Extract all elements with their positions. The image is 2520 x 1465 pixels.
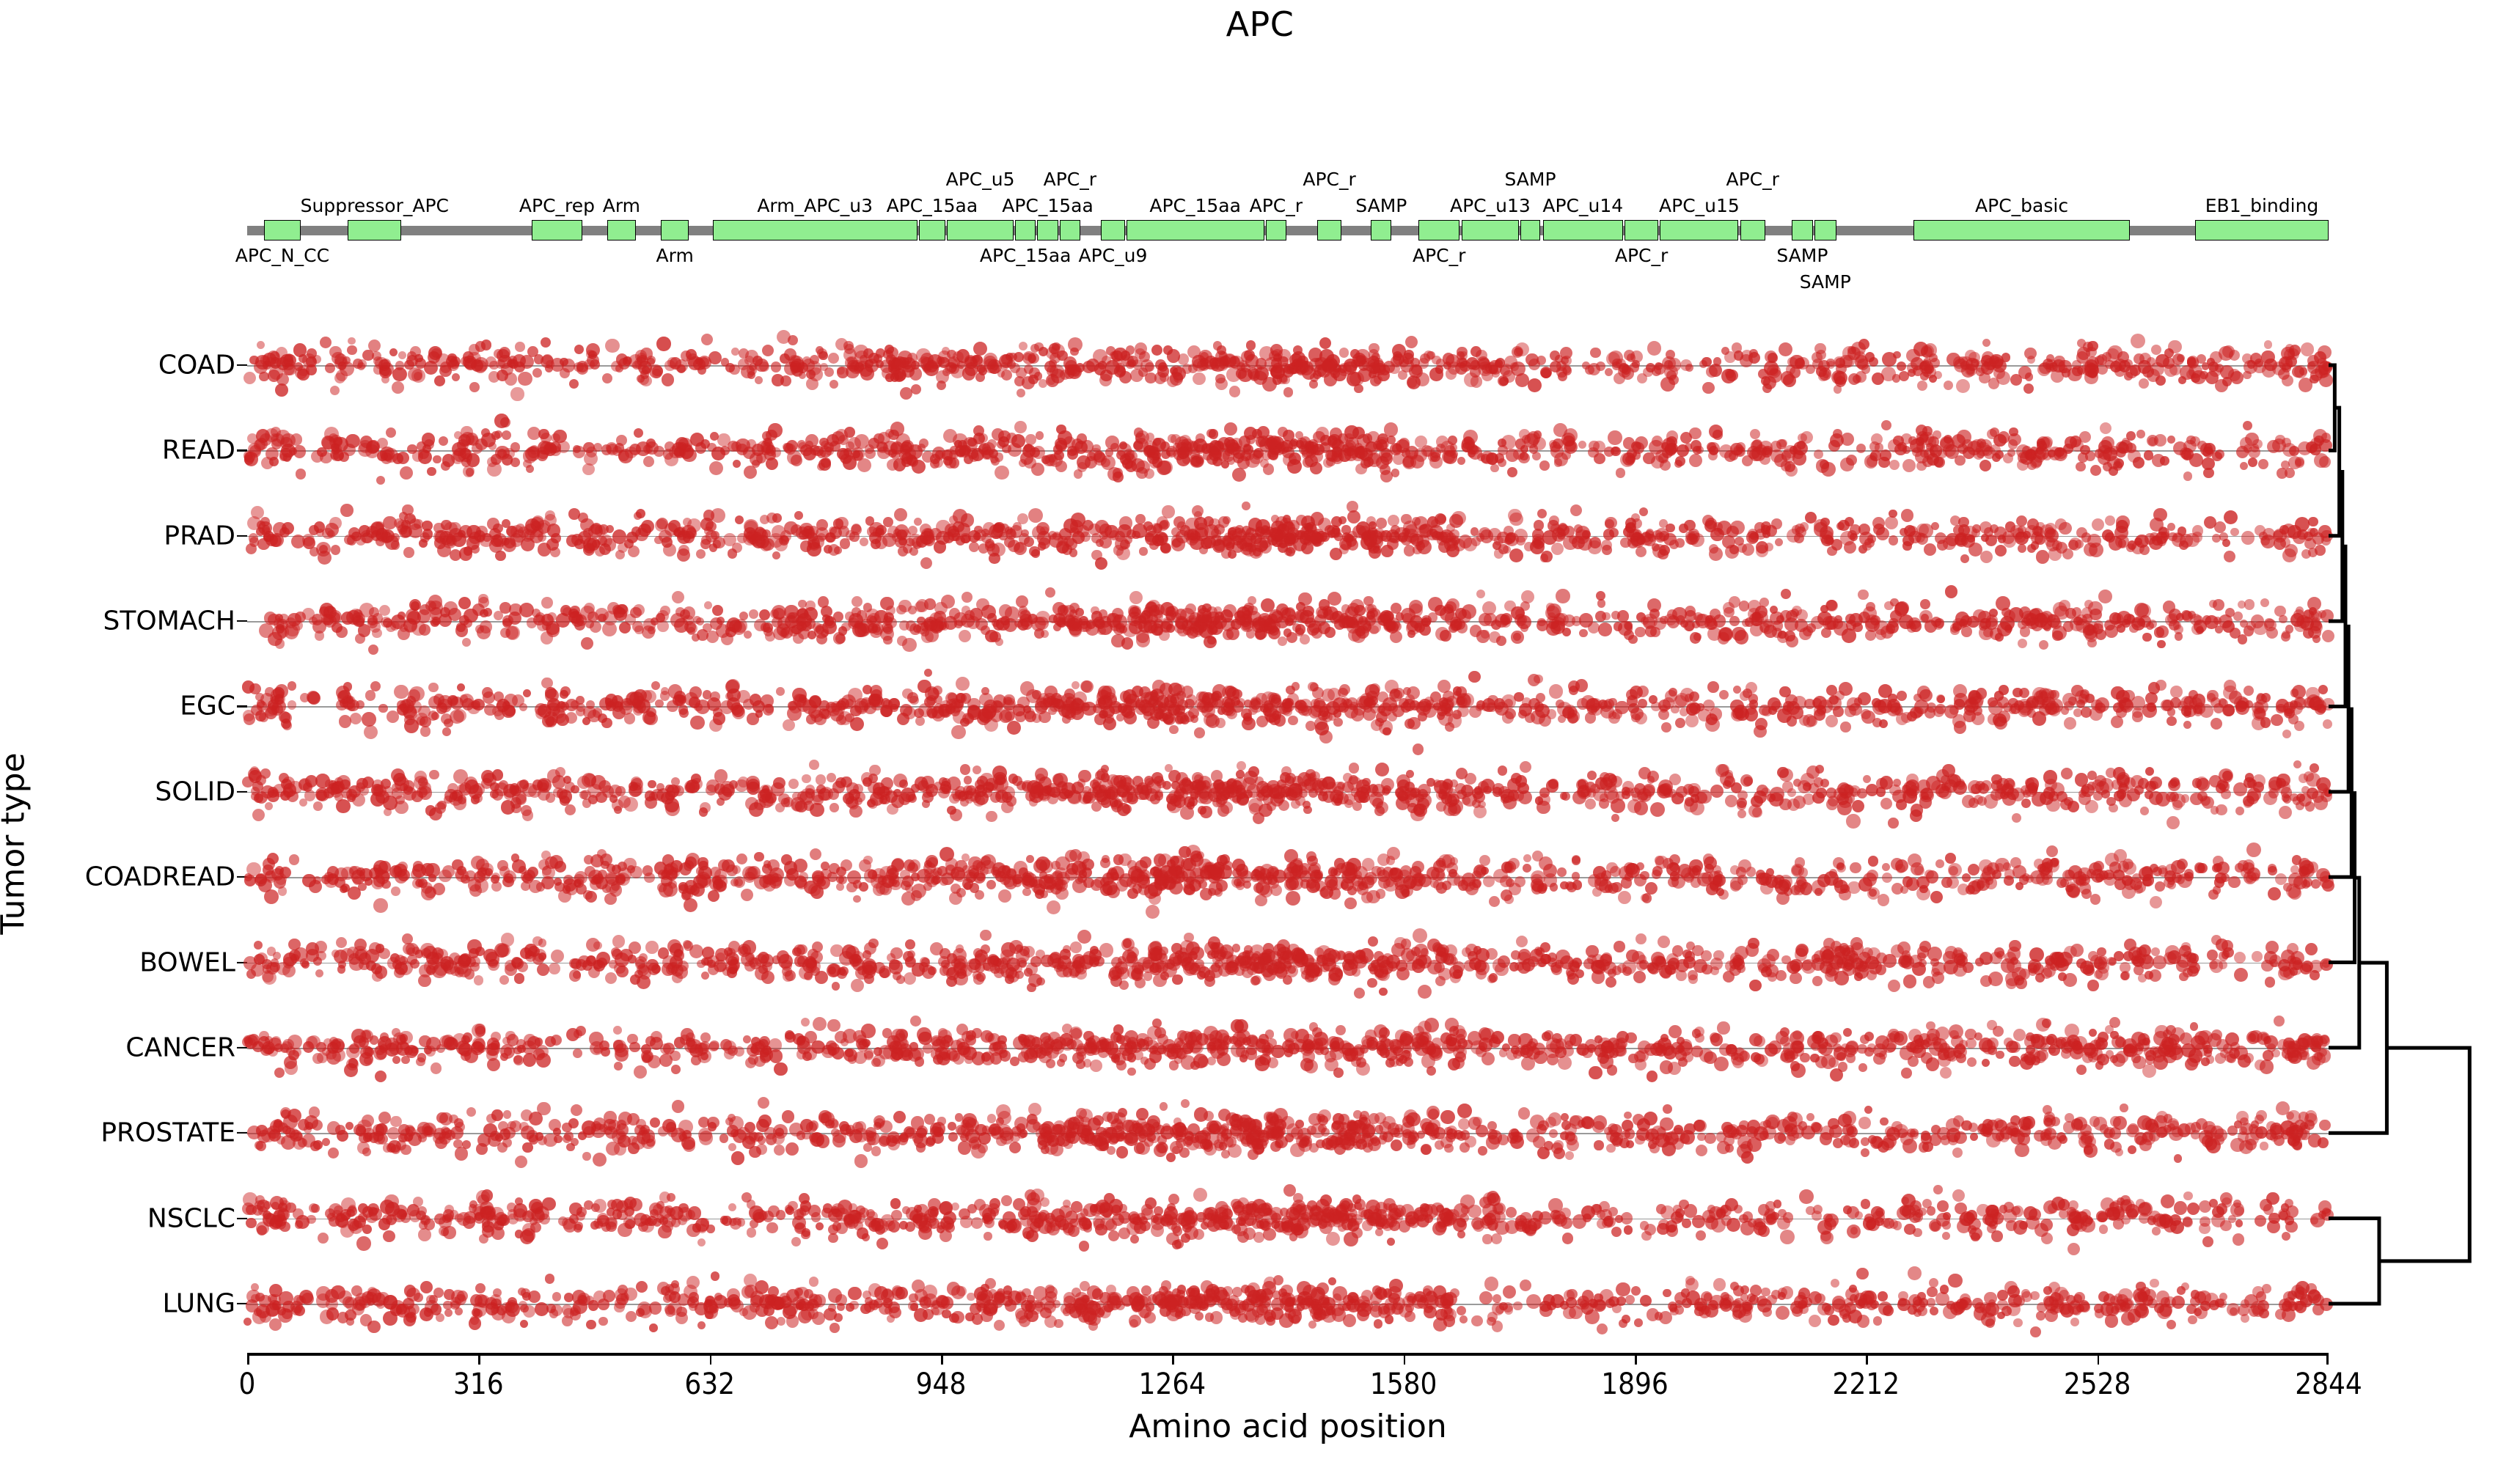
mutation-point (1381, 448, 1391, 458)
domain-box-suppressor_apc[interactable] (348, 220, 401, 241)
domain-label: APC_15aa (1149, 195, 1241, 216)
domain-box-samp[interactable] (1371, 220, 1391, 241)
mutation-point (1338, 516, 1347, 524)
domain-box-apc_u9[interactable] (1101, 220, 1124, 241)
mutation-point (708, 351, 722, 364)
mutation-point (2037, 363, 2051, 376)
mutation-point (1449, 514, 1463, 528)
mutation-point (652, 366, 663, 377)
mutation-point (1779, 686, 1790, 697)
mutation-point (1369, 343, 1379, 353)
mutation-point (1853, 375, 1861, 383)
domain-label: APC_r (1250, 195, 1303, 216)
y-axis-label-cancer: CANCER (125, 1032, 235, 1062)
mutation-point (1827, 546, 1837, 557)
mutation-point (1703, 700, 1715, 711)
mutation-point (2247, 360, 2255, 368)
mutation-point (674, 691, 686, 702)
mutation-point (755, 359, 769, 372)
mutation-point (1343, 442, 1355, 454)
mutation-point (1553, 438, 1563, 449)
mutation-point (1261, 615, 1273, 627)
mutation-point (1330, 548, 1342, 560)
mutation-point (462, 638, 471, 647)
mutation-point (1495, 453, 1505, 463)
y-axis-title: Tumor type (0, 690, 32, 998)
mutation-point (1132, 531, 1140, 540)
mutation-point (1136, 633, 1151, 647)
mutation-point (1016, 595, 1028, 608)
mutation-point (2167, 436, 2175, 444)
mutation-point (518, 372, 532, 386)
mutation-point (709, 719, 722, 732)
mutation-point (2155, 680, 2166, 691)
mutation-point (2183, 721, 2191, 729)
mutation-point (761, 694, 773, 707)
domain-box-apc_u13[interactable] (1462, 220, 1520, 241)
y-axis-tick (237, 364, 247, 366)
mutation-point (937, 356, 945, 364)
mutation-point (2115, 459, 2124, 468)
mutation-point (1353, 703, 1366, 716)
mutation-point (560, 368, 570, 378)
mutation-point (576, 707, 585, 716)
domain-box-apc_basic[interactable] (1913, 220, 2130, 241)
mutation-point (729, 364, 739, 375)
mutation-point (1138, 615, 1146, 623)
mutation-point (860, 619, 874, 634)
domain-box-apc_15aa[interactable] (1015, 220, 1036, 241)
mutation-point (1347, 501, 1358, 513)
mutation-point (2277, 468, 2288, 479)
mutation-point (585, 620, 594, 628)
domain-box-apc_u15[interactable] (1660, 220, 1738, 241)
mutation-point (1325, 627, 1336, 638)
mutation-point (1196, 612, 1209, 625)
mutation-point (1322, 361, 1333, 372)
mutation-point (854, 434, 869, 449)
mutation-point (844, 427, 855, 438)
mutation-point (628, 546, 640, 557)
mutation-point (1435, 627, 1449, 641)
mutation-point (1792, 606, 1802, 616)
mutation-point (397, 452, 409, 464)
domain-box-apc_r[interactable] (1266, 220, 1286, 241)
y-axis-label-solid: SOLID (155, 776, 235, 807)
mutation-point (956, 349, 970, 363)
domain-box-apc_rep[interactable] (532, 220, 582, 241)
mutation-point (1539, 460, 1550, 471)
mutation-point (735, 515, 744, 524)
mutation-point (1787, 716, 1798, 727)
mutation-point (798, 600, 807, 609)
mutation-point (419, 539, 428, 548)
mutation-point (2279, 356, 2293, 370)
mutation-point (693, 359, 705, 370)
mutation-point (1160, 372, 1169, 382)
domain-box-samp[interactable] (1814, 220, 1836, 241)
mutation-point (744, 466, 757, 479)
mutation-point (1261, 598, 1275, 612)
mutation-point (1282, 447, 1294, 459)
mutation-point (1996, 596, 2010, 611)
mutation-point (2168, 340, 2182, 354)
mutation-point (2282, 730, 2291, 738)
mutation-point (2244, 599, 2255, 610)
mutation-point (1371, 353, 1380, 361)
mutation-point (1660, 377, 1675, 392)
mutation-point (2068, 697, 2076, 705)
mutation-point (1889, 535, 1899, 546)
mutation-point (1039, 711, 1050, 723)
mutation-point (755, 376, 763, 384)
mutation-point (818, 596, 829, 607)
mutation-point (1546, 603, 1555, 612)
mutation-point (642, 625, 655, 639)
mutation-point (1481, 370, 1493, 381)
mutation-point (255, 711, 265, 721)
mutation-point (1812, 698, 1822, 708)
mutation-point (1005, 711, 1015, 722)
mutation-point (1437, 514, 1446, 524)
mutation-point (1726, 526, 1738, 537)
mutation-point (1017, 513, 1028, 524)
mutation-point (709, 461, 723, 475)
mutation-point (448, 608, 461, 621)
mutation-point (1269, 713, 1281, 725)
mutation-point (2290, 689, 2299, 697)
mutation-point (1419, 524, 1433, 537)
mutation-point (406, 696, 416, 705)
mutation-point (1404, 524, 1418, 538)
mutation-point (2018, 544, 2026, 553)
mutation-point (332, 623, 343, 634)
mutation-point (1200, 352, 1209, 361)
mutation-point (2155, 375, 2166, 386)
mutation-point (1501, 694, 1516, 709)
mutation-point (506, 626, 519, 639)
mutation-point (1960, 554, 1969, 563)
mutation-point (750, 452, 763, 466)
mutation-point (1983, 628, 1992, 637)
domain-label: APC_u13 (1450, 195, 1531, 216)
mutation-point (656, 337, 671, 351)
mutation-point (1355, 463, 1367, 475)
mutation-point (1224, 422, 1237, 436)
mutation-point (2142, 633, 2151, 642)
mutation-point (1635, 627, 1646, 638)
mutation-point (2098, 590, 2112, 603)
domain-box-apc_u14[interactable] (1543, 220, 1623, 241)
domain-box-apc_15aa[interactable] (1037, 220, 1058, 241)
mutation-point (635, 528, 648, 540)
mutation-point (1503, 370, 1515, 383)
mutation-point (2031, 541, 2039, 549)
mutation-point (1190, 456, 1201, 467)
mutation-point (2205, 371, 2219, 384)
mutation-point (1748, 533, 1758, 543)
mutation-point (2059, 600, 2070, 612)
mutation-point (1916, 437, 1924, 446)
mutation-point (711, 531, 719, 540)
mutation-point (263, 361, 271, 369)
mutation-point (1825, 537, 1834, 546)
mutation-point (2128, 449, 2141, 463)
mutation-point (644, 712, 657, 725)
mutation-point (1070, 348, 1079, 356)
mutation-point (598, 614, 606, 622)
mutation-point (330, 386, 340, 395)
mutation-point (1377, 691, 1388, 702)
mutation-point (2259, 532, 2268, 540)
mutation-point (495, 446, 510, 460)
domain-box-apc_u5[interactable] (947, 220, 1014, 241)
mutation-point (1718, 627, 1733, 642)
mutation-point (807, 631, 816, 639)
y-axis-label-coadread: COADREAD (85, 862, 235, 892)
mutation-point (493, 524, 503, 534)
mutation-point (1643, 614, 1658, 628)
mutation-point (551, 433, 560, 442)
domain-box-apc_r[interactable] (1317, 220, 1341, 241)
mutation-point (1313, 431, 1325, 443)
mutation-point (2243, 371, 2251, 379)
mutation-point (1689, 427, 1701, 439)
mutation-point (358, 624, 371, 637)
mutation-point (2208, 361, 2219, 372)
mutation-point (1384, 422, 1399, 437)
mutation-point (1858, 692, 1871, 705)
mutation-point (1917, 686, 1931, 700)
mutation-point (850, 717, 864, 731)
mutation-point (2229, 350, 2240, 361)
mutation-point (2215, 449, 2224, 459)
mutation-point (1967, 616, 1979, 628)
domain-box-arm_apc_u3[interactable] (713, 220, 917, 241)
mutation-point (1271, 515, 1279, 523)
mutation-point (1708, 451, 1718, 460)
domain-box-arm[interactable] (661, 220, 689, 241)
mutation-point (1669, 688, 1677, 697)
mutation-point (1514, 614, 1527, 626)
domain-label: APC_r (1303, 169, 1355, 190)
mutation-point (2187, 356, 2199, 368)
mutation-point (812, 535, 825, 548)
mutation-point (899, 620, 909, 631)
scatter-plot-area (247, 315, 2329, 1334)
domain-box-arm[interactable] (607, 220, 635, 241)
mutation-point (1742, 455, 1753, 466)
mutation-point (2105, 515, 2115, 526)
mutation-point (1995, 545, 2007, 557)
mutation-point (1936, 694, 1945, 703)
mutation-point (1283, 515, 1292, 524)
mutation-point (1381, 545, 1393, 557)
mutation-point (1662, 356, 1676, 370)
mutation-point (1471, 537, 1481, 546)
mutation-point (2027, 709, 2036, 718)
mutation-point (2177, 526, 2187, 536)
mutation-point (1197, 360, 1207, 370)
mutation-point (721, 358, 729, 366)
mutation-point (2212, 534, 2221, 543)
mutation-point (1357, 434, 1370, 447)
mutation-point (1080, 680, 1092, 692)
mutation-point (1787, 701, 1800, 714)
mutation-point (1643, 452, 1655, 464)
mutation-point (1783, 374, 1796, 387)
mutation-point (951, 725, 966, 740)
mutation-point (2010, 374, 2022, 386)
mutation-point (828, 353, 839, 364)
mutation-point (2282, 524, 2296, 537)
mutation-point (2230, 528, 2238, 536)
mutation-point (1834, 356, 1845, 367)
mutation-point (464, 358, 477, 370)
mutation-point (1756, 541, 1768, 554)
mutation-point (1457, 351, 1465, 360)
mutation-point (464, 609, 477, 623)
mutation-point (749, 609, 758, 619)
mutation-point (557, 441, 570, 453)
mutation-point (876, 360, 884, 368)
mutation-point (1008, 443, 1022, 457)
mutation-point (860, 355, 868, 363)
mutation-point (1092, 444, 1100, 452)
mutation-point (744, 356, 754, 365)
mutation-point (1882, 352, 1897, 367)
domain-box-samp[interactable] (1520, 220, 1539, 241)
domain-box-samp[interactable] (1792, 220, 1812, 241)
mutation-point (876, 441, 887, 452)
mutation-point (1605, 368, 1613, 376)
mutation-point (1305, 533, 1314, 543)
mutation-point (1278, 636, 1287, 646)
mutation-point (1111, 634, 1124, 647)
mutation-point (320, 337, 332, 348)
mutation-point (1902, 459, 1916, 472)
mutation-point (1275, 533, 1290, 548)
mutation-point (1840, 458, 1853, 471)
mutation-point (794, 511, 803, 520)
mutation-point (1188, 364, 1198, 373)
mutation-point (420, 726, 431, 737)
domain-box-apc_r[interactable] (1740, 220, 1765, 241)
mutation-point (428, 683, 438, 692)
mutation-point (1020, 681, 1034, 695)
mutation-point (1608, 712, 1620, 724)
mutation-point (1470, 527, 1479, 536)
mutation-point (1158, 702, 1168, 712)
mutation-point (1893, 436, 1903, 446)
mutation-point (568, 508, 580, 520)
mutation-point (907, 692, 918, 703)
mutation-point (2177, 354, 2185, 362)
mutation-point (1686, 702, 1700, 716)
domain-box-apc_r[interactable] (1418, 220, 1460, 241)
mutation-point (1556, 700, 1564, 708)
mutation-point (1243, 713, 1252, 722)
mutation-point (1933, 430, 1941, 438)
mutation-point (1173, 372, 1183, 382)
mutation-point (625, 614, 637, 625)
domain-box-apc_15aa[interactable] (919, 220, 945, 241)
mutation-point (2166, 716, 2177, 727)
mutation-point (1781, 589, 1791, 599)
mutation-point (1091, 611, 1102, 622)
mutation-point (2241, 531, 2255, 544)
mutation-point (1213, 341, 1223, 350)
mutation-point (1117, 443, 1132, 458)
mutation-point (898, 600, 911, 612)
mutation-point (640, 375, 651, 386)
mutation-point (1917, 381, 1927, 391)
mutation-point (1490, 464, 1499, 473)
mutation-point (275, 383, 288, 397)
mutation-point (547, 524, 560, 537)
mutation-point (1841, 433, 1854, 446)
domain-label: APC_15aa (1002, 195, 1094, 216)
mutation-point (509, 603, 521, 616)
mutation-point (2073, 617, 2082, 625)
mutation-point (672, 591, 684, 603)
mutation-point (833, 612, 843, 622)
mutation-point (846, 365, 859, 378)
mutation-point (902, 638, 917, 653)
domain-label: APC_r (1726, 169, 1779, 190)
mutation-point (1218, 516, 1230, 528)
mutation-point (1476, 590, 1485, 598)
mutation-point (1327, 592, 1342, 606)
mutation-point (334, 372, 345, 383)
mutation-point (365, 444, 379, 458)
mutation-point (475, 341, 486, 352)
mutation-point (1861, 709, 1871, 719)
domain-box-apc_15aa[interactable] (1127, 220, 1264, 241)
domain-label: APC_rep (519, 195, 595, 216)
mutation-point (1215, 718, 1225, 727)
mutation-point (969, 542, 979, 552)
domain-box-apc_r[interactable] (1060, 220, 1080, 241)
mutation-point (2025, 372, 2033, 381)
mutation-point (744, 631, 752, 639)
mutation-point (788, 701, 797, 711)
mutation-point (550, 547, 560, 557)
mutation-point (387, 711, 399, 723)
domain-box-apc_n_cc[interactable] (264, 220, 301, 241)
mutation-point (282, 359, 294, 370)
mutation-point (2116, 447, 2127, 458)
mutation-point (1185, 603, 1196, 614)
mutation-point (2214, 521, 2226, 533)
mutation-point (460, 448, 471, 459)
mutation-point (1892, 374, 1901, 383)
mutation-point (403, 547, 414, 558)
mutation-point (546, 621, 560, 635)
domain-box-eb1_binding[interactable] (2195, 220, 2329, 241)
mutation-point (1139, 547, 1147, 555)
mutation-point (1685, 364, 1693, 372)
domain-box-apc_r[interactable] (1625, 220, 1658, 241)
mutation-point (822, 620, 836, 634)
mutation-point (1736, 442, 1746, 452)
mutation-point (987, 439, 997, 449)
mutation-point (1151, 345, 1162, 356)
mutation-point (2271, 714, 2282, 726)
mutation-point (1637, 373, 1647, 383)
mutation-point (1103, 717, 1116, 730)
mutation-point (527, 617, 537, 628)
